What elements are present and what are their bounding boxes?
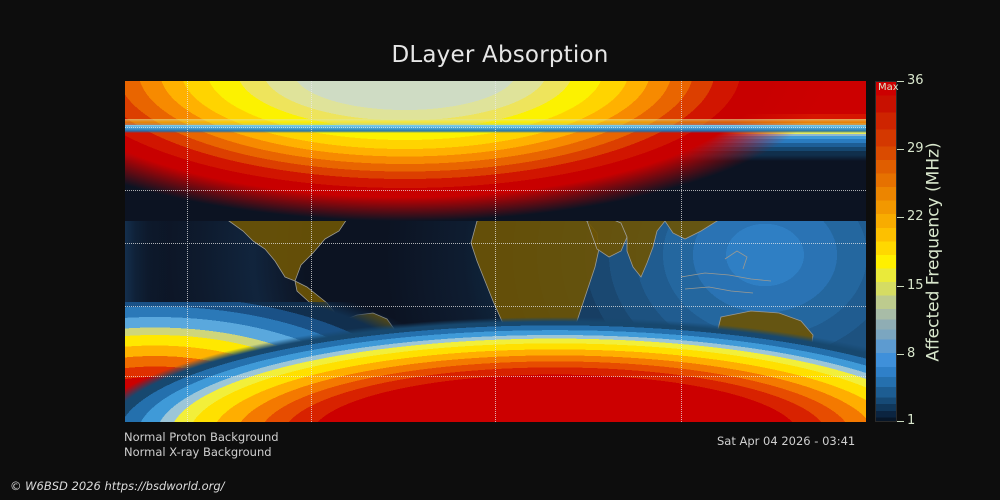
colorbar-tick xyxy=(897,286,904,287)
graticule-parallel xyxy=(125,306,866,307)
colorbar-max-label: Max xyxy=(876,82,901,94)
timestamp-text: Sat Apr 04 2026 - 03:41 xyxy=(717,434,855,448)
proton-status-text: Normal Proton Background xyxy=(124,430,279,444)
graticule-meridian xyxy=(681,81,682,422)
graticule-parallel xyxy=(125,127,866,128)
page-title: DLayer Absorption xyxy=(0,42,1000,68)
xray-status-text: Normal X-ray Background xyxy=(124,445,272,459)
graticule-parallel xyxy=(125,190,866,191)
colorbar-axis-label-text: Affected Frequency (MHz) xyxy=(924,142,944,361)
graticule-meridian xyxy=(495,81,496,422)
colorbar-gradient xyxy=(875,81,897,422)
absorption-map[interactable] xyxy=(125,81,866,422)
copyright-text: © W6BSD 2026 https://bsdworld.org/ xyxy=(10,479,225,493)
graticule-parallel xyxy=(125,376,866,377)
colorbar-tick-label: 1 xyxy=(907,413,915,428)
colorbar-tick xyxy=(897,81,904,82)
colorbar-axis-label: Affected Frequency (MHz) xyxy=(922,81,946,422)
colorbar-tick xyxy=(897,354,904,355)
graticule-meridian xyxy=(187,81,188,422)
colorbar-tick xyxy=(897,421,904,422)
colorbar[interactable]: Max 36 29 22 15 8 1 xyxy=(875,81,897,422)
graticule-meridian xyxy=(311,81,312,422)
colorbar-tick xyxy=(897,217,904,218)
colorbar-tick-label: 8 xyxy=(907,346,915,361)
graticule-parallel xyxy=(125,243,866,244)
colorbar-tick xyxy=(897,149,904,150)
